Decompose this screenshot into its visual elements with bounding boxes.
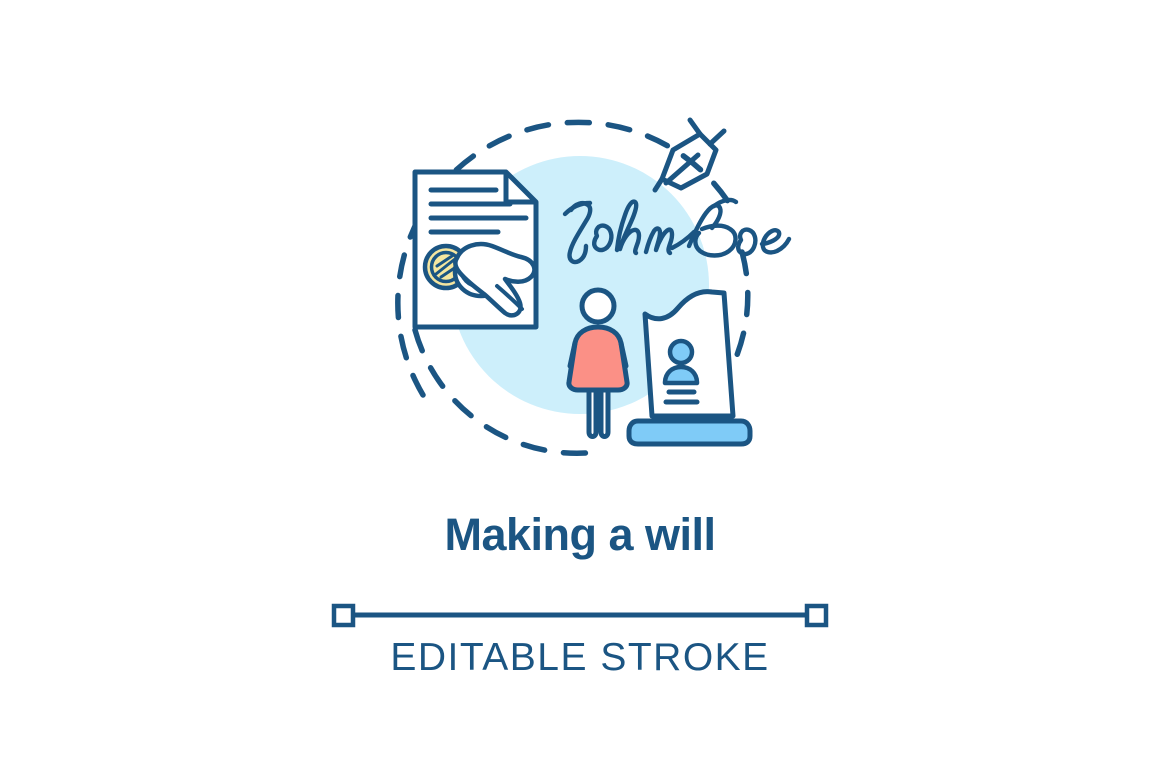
editable-stroke-label: EDITABLE STROKE [0,636,1160,680]
caption-block: Making a will [0,505,1160,565]
stroke-handle-left[interactable] [334,606,353,625]
fountain-pen-nib-icon [655,120,724,190]
page-title: Making a will [0,505,1160,565]
editable-stroke-rule [0,598,1160,632]
stroke-handle-right[interactable] [807,606,826,625]
certificate-monument [629,292,750,444]
will-document [415,172,536,327]
concept-icon-canvas: Making a will EDITABLE STROKE [0,0,1160,772]
